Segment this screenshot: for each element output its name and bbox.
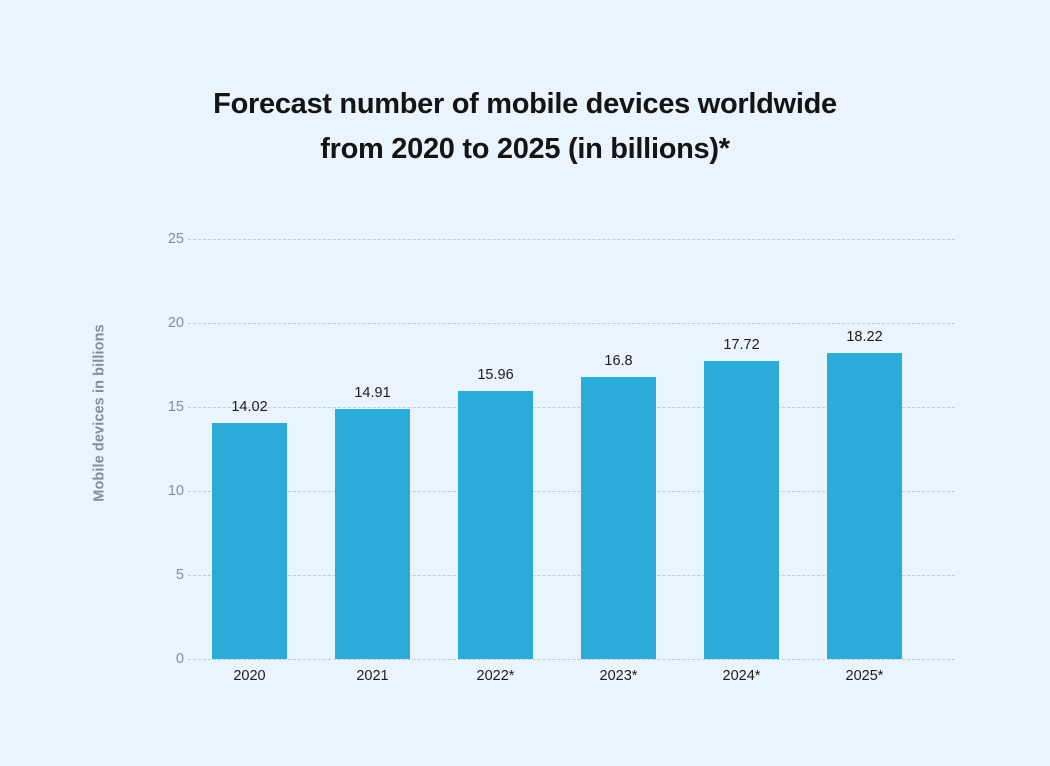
bar-value-label: 15.96 [434,367,557,383]
bar-group[interactable]: 15.96 [434,239,557,659]
bar-2023*[interactable] [581,377,656,659]
x-tick-label-2022star: 2022* [434,668,557,684]
bar-group[interactable]: 17.72 [680,239,803,659]
y-axis-title: Mobile devices in billions [88,288,112,538]
bar-chart-figure: Forecast number of mobile devices worldw… [0,0,1050,766]
chart-title-line-1: Forecast number of mobile devices worldw… [0,82,1050,127]
bars-layer: 14.0214.9115.9616.817.7218.22 [188,239,955,659]
bar-2021[interactable] [335,409,410,659]
bar-value-label: 14.02 [188,399,311,415]
bar-value-label: 14.91 [311,385,434,401]
chart-title: Forecast number of mobile devices worldw… [0,82,1050,172]
bar-value-label: 16.8 [557,353,680,369]
chart-title-line-2: from 2020 to 2025 (in billions)* [0,127,1050,172]
y-tick-label-15: 15 [150,399,184,415]
x-tick-label-2025star: 2025* [803,668,926,684]
y-tick-label-25: 25 [150,231,184,247]
gridline-0 [188,659,955,660]
x-tick-label-2020: 2020 [188,668,311,684]
x-tick-label-2023star: 2023* [557,668,680,684]
bar-group[interactable]: 14.91 [311,239,434,659]
x-axis-tick-labels: 202020212022*2023*2024*2025* [188,668,955,692]
bar-2022*[interactable] [458,391,533,659]
bar-value-label: 18.22 [803,329,926,345]
bar-value-label: 17.72 [680,337,803,353]
y-axis-tick-labels: 0510152025 [150,239,184,659]
bar-2020[interactable] [212,423,287,659]
x-tick-label-2024star: 2024* [680,668,803,684]
bar-group[interactable]: 14.02 [188,239,311,659]
bar-group[interactable]: 18.22 [803,239,926,659]
x-tick-label-2021: 2021 [311,668,434,684]
y-tick-label-5: 5 [150,567,184,583]
y-axis-title-text: Mobile devices in billions [92,324,108,501]
bar-group[interactable]: 16.8 [557,239,680,659]
y-tick-label-0: 0 [150,651,184,667]
y-tick-label-10: 10 [150,483,184,499]
bar-2025*[interactable] [827,353,902,659]
bar-2024*[interactable] [704,361,779,659]
y-tick-label-20: 20 [150,315,184,331]
